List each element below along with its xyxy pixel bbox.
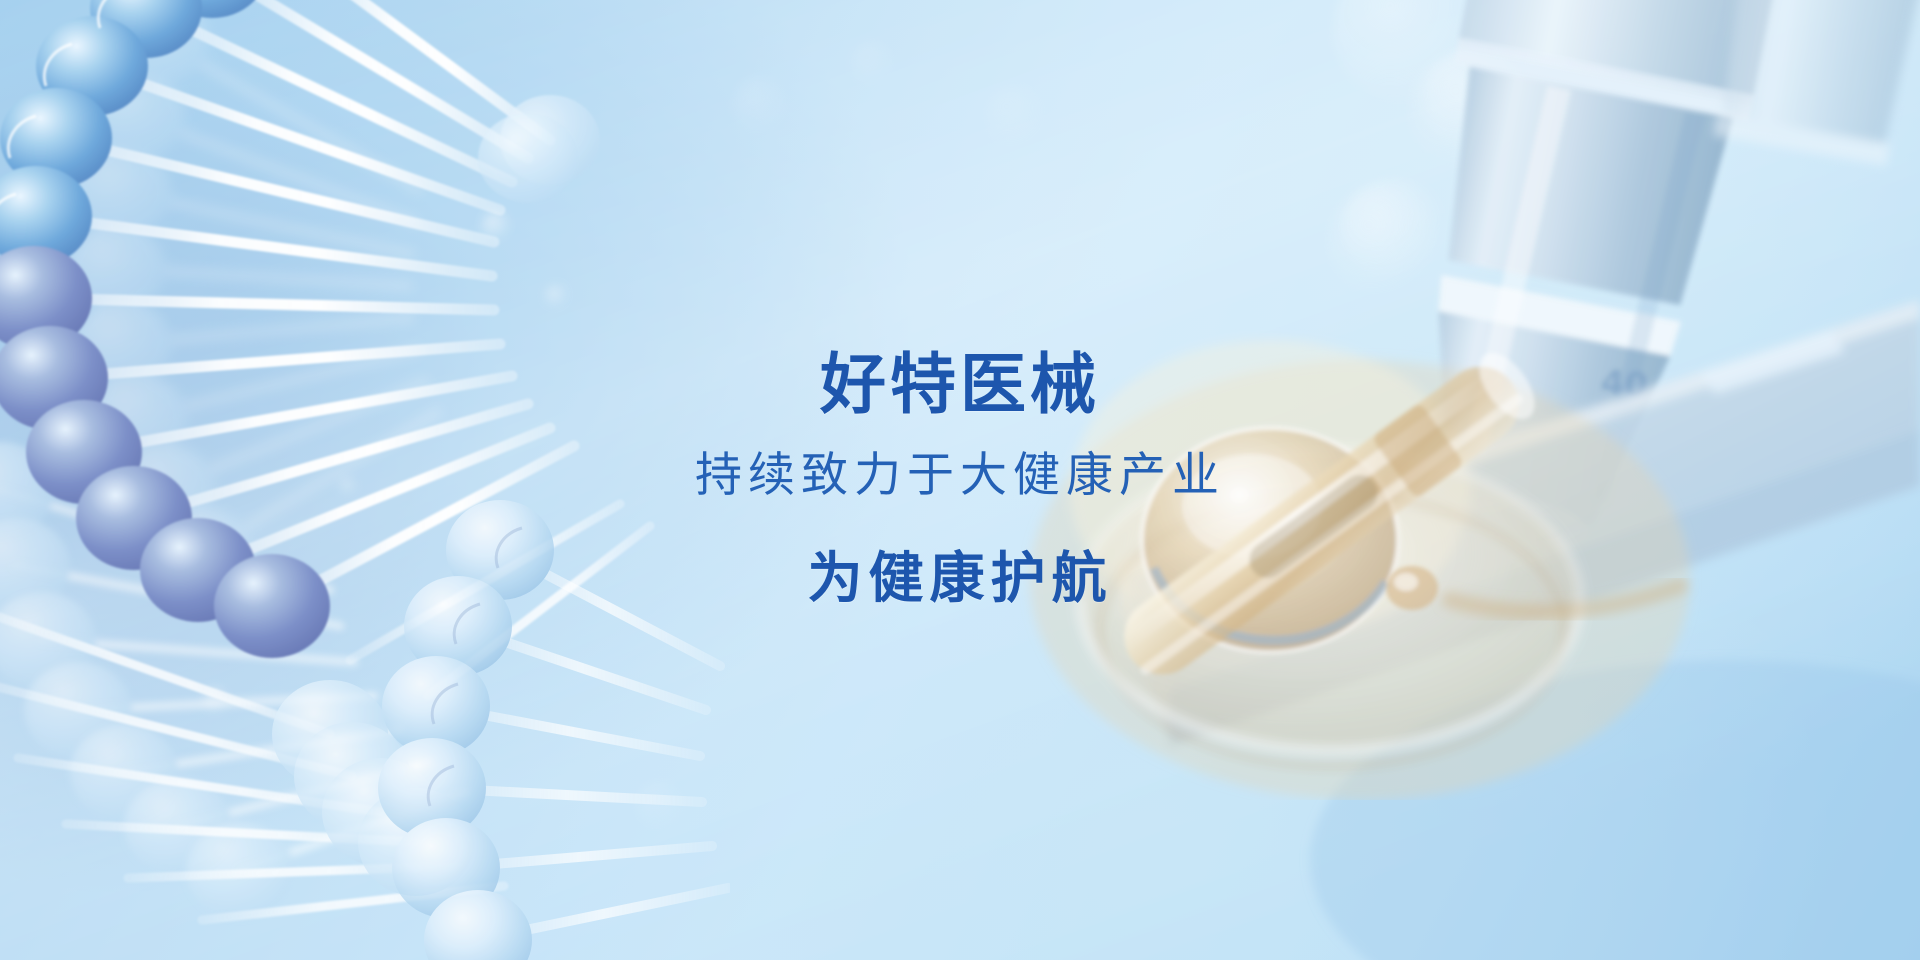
hero-text-block: 好特医械 持续致力于大健康产业 为健康护航	[0, 352, 1920, 606]
hero-subtitle: 持续致力于大健康产业	[0, 452, 1920, 499]
page-title: 好特医械	[0, 352, 1920, 418]
hero-banner: 40	[0, 0, 1920, 960]
hero-tagline: 为健康护航	[0, 551, 1920, 606]
